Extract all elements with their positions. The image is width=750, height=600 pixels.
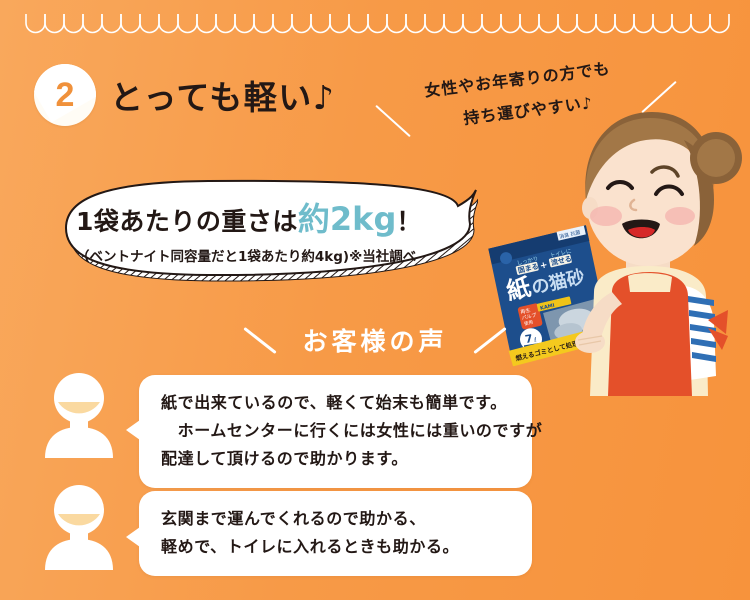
section-number: 2: [56, 78, 75, 112]
testimonial-line: 紙で出来ているので、軽くて始末も簡単です。: [161, 389, 512, 417]
testimonial-item: 紙で出来ているので、軽くて始末も簡単です。 ホームセンターに行くには女性には重い…: [40, 372, 532, 488]
testimonial-line: 配達して頂けるので助かります。: [161, 445, 512, 473]
testimonial-line: 軽めで、トイレに入れるときも助かる。: [161, 533, 512, 561]
testimonial-bubble: 紙で出来ているので、軽くて始末も簡単です。 ホームセンターに行くには女性には重い…: [139, 375, 532, 488]
section-number-badge: 2: [34, 64, 96, 126]
voices-slash-left-icon: [244, 327, 277, 354]
advertisement-panel: 2 とっても軽い♪ 女性やお年寄りの方でも 持ち運びやすい♪ 1袋あたりの重さは…: [0, 0, 750, 600]
voices-slash-right-icon: [473, 327, 506, 354]
weight-bubble-content: 1袋あたりの重さは約2kg！ （ベントナイト同容量だと1袋あたり約4kg)※当社…: [58, 176, 478, 282]
testimonial-line: ホームセンターに行くには女性には重いのですが: [161, 417, 512, 445]
testimonial-item: 玄関まで運んでくれるので助かる、 軽めで、トイレに入れるときも助かる。: [40, 484, 532, 576]
page-title: とっても軽い♪: [110, 71, 335, 119]
testimonial-bubble: 玄関まで運んでくれるので助かる、 軽めで、トイレに入れるときも助かる。: [139, 491, 532, 576]
person-avatar-icon: [40, 484, 118, 570]
person-avatar-icon: [40, 372, 118, 458]
weight-exclamation: ！: [396, 207, 422, 236]
weight-highlight: 約2kg: [298, 200, 396, 238]
weight-text-before: 1袋あたりの重さは: [76, 207, 298, 236]
voices-title: お客様の声: [302, 322, 447, 358]
customer-voices-heading: お客様の声: [0, 322, 750, 358]
testimonial-line: 玄関まで運んでくれるので助かる、: [161, 505, 512, 533]
weight-footnote: （ベントナイト同容量だと1袋あたり約4kg)※当社調べ: [76, 245, 478, 265]
weight-speech-bubble: 1袋あたりの重さは約2kg！ （ベントナイト同容量だと1袋あたり約4kg)※当社…: [58, 176, 478, 282]
section-header: 2 とっても軽い♪: [34, 64, 335, 126]
scalloped-border-decoration: [0, 14, 750, 40]
weight-headline: 1袋あたりの重さは約2kg！: [76, 194, 478, 240]
